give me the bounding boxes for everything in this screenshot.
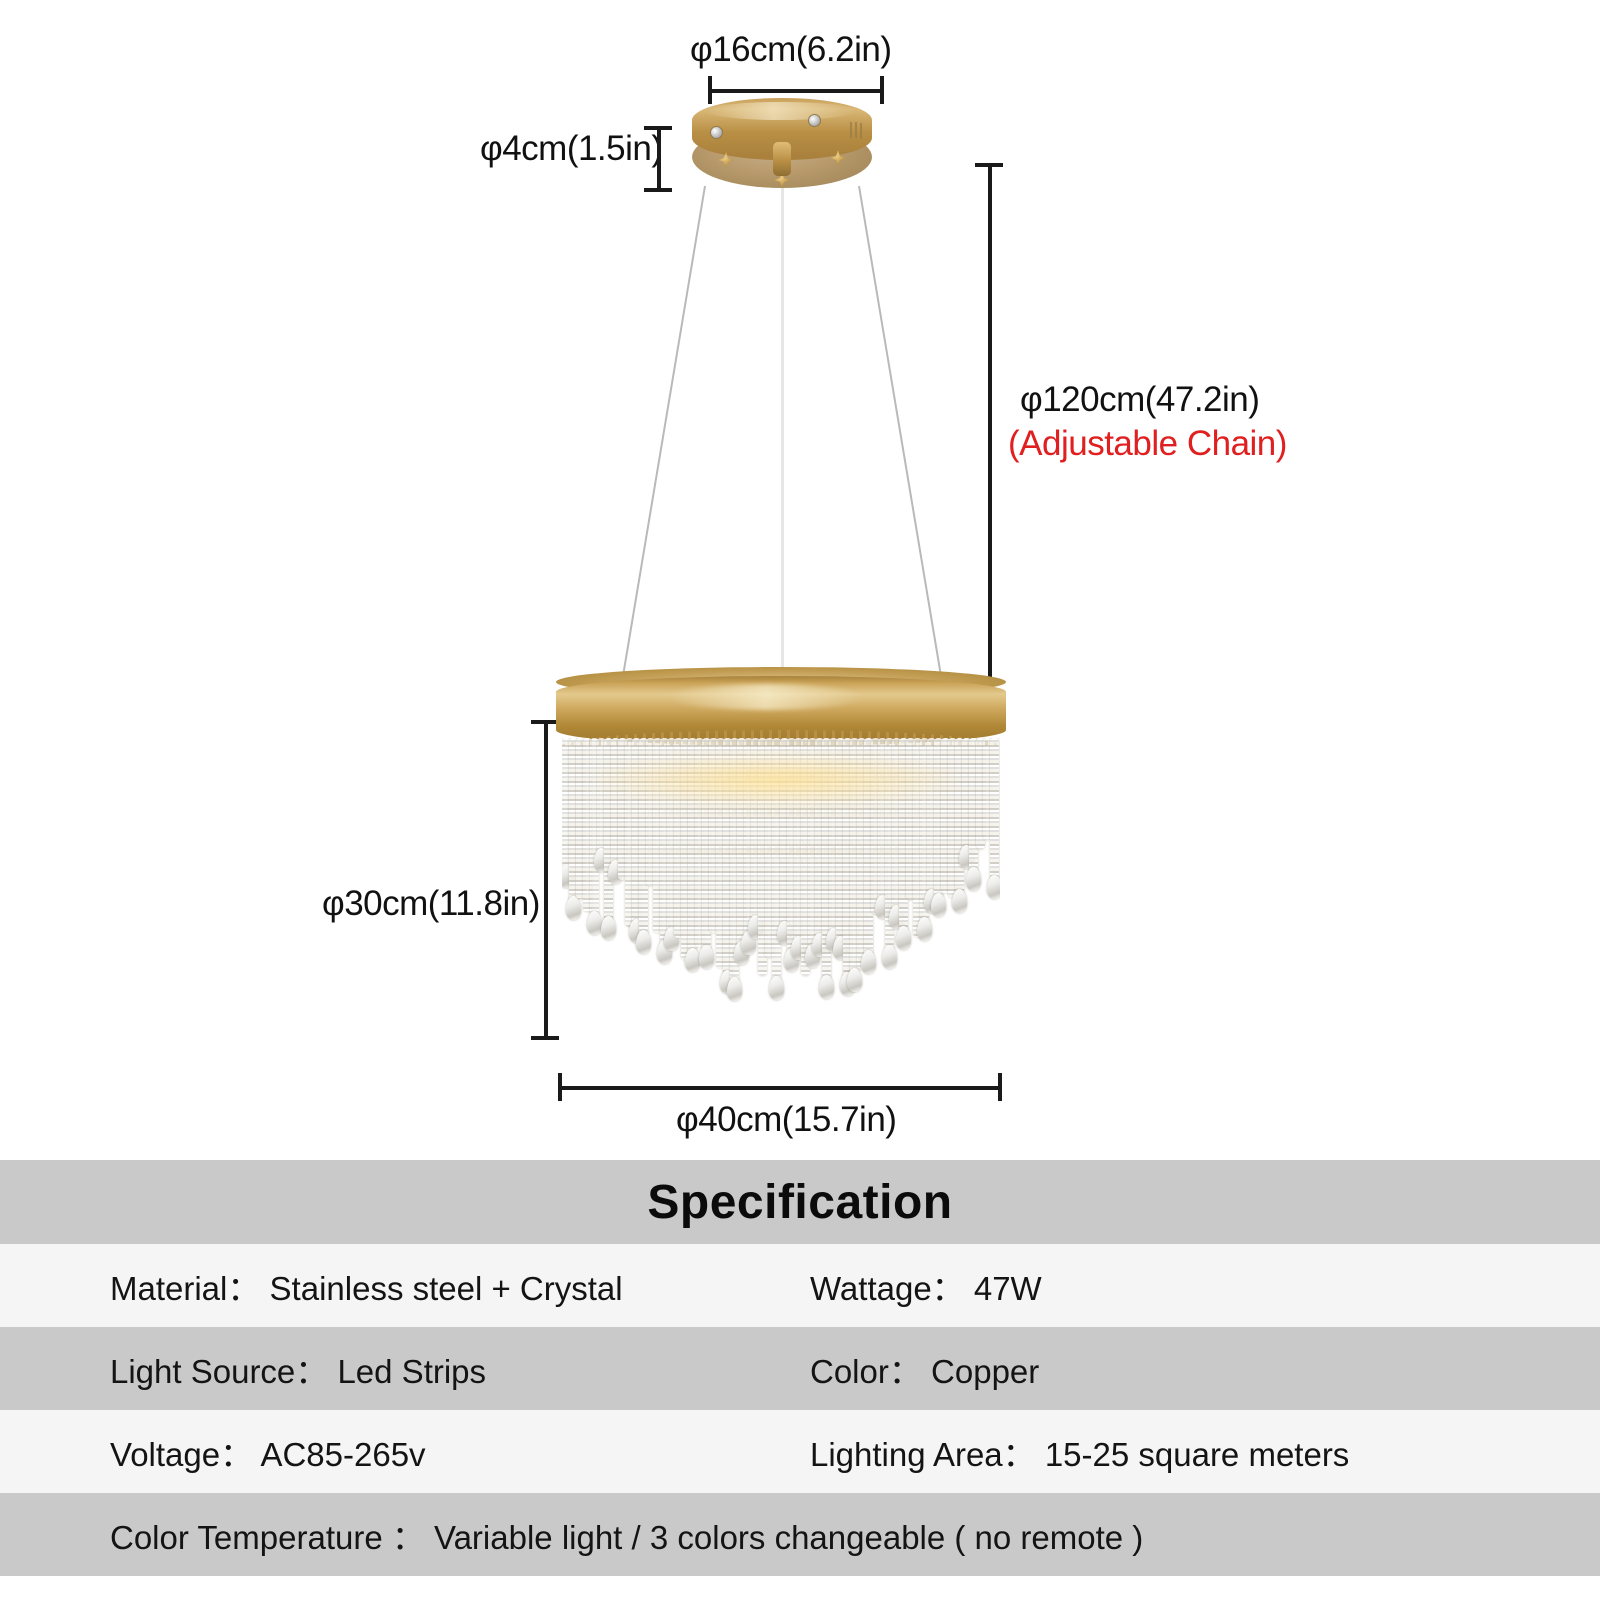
canopy-center-connector xyxy=(773,142,791,176)
dimension-cap-bottom xyxy=(644,188,672,192)
canopy-vent-3 xyxy=(860,123,862,139)
canopy-screw-right xyxy=(808,114,821,127)
dimension-label-chain-length: φ120cm(47.2in) xyxy=(1020,380,1259,420)
crystal-teardrop xyxy=(952,889,967,913)
dimension-cap-fixture-top xyxy=(531,720,559,724)
canopy-highlight xyxy=(706,102,856,120)
table-row: Material： Stainless steel + Crystal Watt… xyxy=(0,1244,1600,1327)
table-row: Light Source： Led Strips Color： Copper xyxy=(0,1327,1600,1410)
spec-cell-color: Color： Copper xyxy=(790,1345,1600,1393)
dimension-label-canopy-height: φ4cm(1.5in) xyxy=(480,129,663,169)
dimension-cap-fixture-bottom xyxy=(531,1036,559,1040)
dimension-cap-top xyxy=(644,126,672,130)
spec-cell-light-source: Light Source： Led Strips xyxy=(0,1345,790,1393)
dimension-cap-width-left xyxy=(558,1073,562,1101)
spec-text-light-source: Light Source： Led Strips xyxy=(110,1353,486,1390)
spec-cell-voltage: Voltage： AC85-265v xyxy=(0,1428,790,1476)
dimension-line-canopy-height xyxy=(657,128,661,190)
suspension-cable-right xyxy=(858,186,949,719)
spec-cell-color-temperature: Color Temperature ： Variable light / 3 c… xyxy=(0,1511,1600,1559)
canopy-screw-left xyxy=(710,126,723,139)
spec-text-wattage: Wattage： 47W xyxy=(810,1270,1042,1307)
crystal-teardrop xyxy=(601,916,616,940)
crystal-teardrop xyxy=(699,945,714,969)
crystal-teardrop xyxy=(966,867,981,891)
canopy-vent-1 xyxy=(850,122,852,138)
spec-cell-material: Material： Stainless steel + Crystal xyxy=(0,1262,790,1310)
specification-title: Specification xyxy=(647,1175,952,1230)
spec-text-material: Material： Stainless steel + Crystal xyxy=(110,1270,623,1307)
spec-text-voltage: Voltage： AC85-265v xyxy=(110,1436,426,1473)
crystal-teardrop xyxy=(861,950,876,974)
crystal-teardrop xyxy=(917,917,932,941)
product-diagram: φ16cm(6.2in) φ4cm(1.5in) φ120cm(47.2in) … xyxy=(0,0,1600,1160)
ring-highlight xyxy=(666,684,866,710)
crystal-strand xyxy=(990,738,999,881)
crystal-teardrop xyxy=(819,975,834,999)
led-glow xyxy=(596,754,956,806)
dimension-label-fixture-height: φ30cm(11.8in) xyxy=(322,884,540,924)
spec-text-lighting-area: Lighting Area： 15-25 square meters xyxy=(810,1436,1349,1473)
crystal-teardrop xyxy=(931,893,946,917)
spec-text-color-temperature: Color Temperature ： Variable light / 3 c… xyxy=(110,1519,1143,1556)
dimension-line-fixture-height xyxy=(544,722,548,1038)
dimension-line-canopy-diameter xyxy=(708,89,884,93)
crystal-teardrop xyxy=(769,976,784,1000)
crystal-teardrop xyxy=(896,926,911,950)
spec-cell-wattage: Wattage： 47W xyxy=(790,1262,1600,1310)
crystal-teardrop xyxy=(636,930,651,954)
dimension-cap-chain-top xyxy=(975,163,1003,167)
dimension-label-fixture-diameter: φ40cm(15.7in) xyxy=(676,1100,896,1140)
crystal-teardrop xyxy=(685,948,700,972)
specification-section: Specification Material： Stainless steel … xyxy=(0,1160,1600,1600)
dimension-cap-right xyxy=(880,76,884,104)
table-row: Color Temperature ： Variable light / 3 c… xyxy=(0,1493,1600,1576)
canopy-vent-2 xyxy=(855,122,857,138)
suspension-cable-center xyxy=(781,178,784,708)
spec-text-color: Color： Copper xyxy=(810,1353,1039,1390)
dimension-label-chain-note: (Adjustable Chain) xyxy=(1008,424,1287,464)
dimension-label-canopy-diameter: φ16cm(6.2in) xyxy=(690,30,892,70)
crystal-teardrop xyxy=(566,896,581,920)
crystal-teardrop xyxy=(587,911,602,935)
suspension-cable-left xyxy=(615,186,706,719)
table-row: Voltage： AC85-265v Lighting Area： 15-25 … xyxy=(0,1410,1600,1493)
chandelier-fixture xyxy=(556,676,1006,1056)
ceiling-canopy xyxy=(692,98,872,190)
dimension-line-fixture-diameter xyxy=(558,1086,1002,1090)
crystal-teardrop xyxy=(847,968,862,992)
dimension-cap-width-right xyxy=(998,1073,1002,1101)
crystal-teardrop xyxy=(727,977,742,1001)
specification-header: Specification xyxy=(0,1160,1600,1244)
crystal-teardrop xyxy=(987,875,1000,899)
dimension-line-chain xyxy=(988,165,992,700)
crystal-teardrop xyxy=(882,945,897,969)
spec-cell-lighting-area: Lighting Area： 15-25 square meters xyxy=(790,1428,1600,1476)
